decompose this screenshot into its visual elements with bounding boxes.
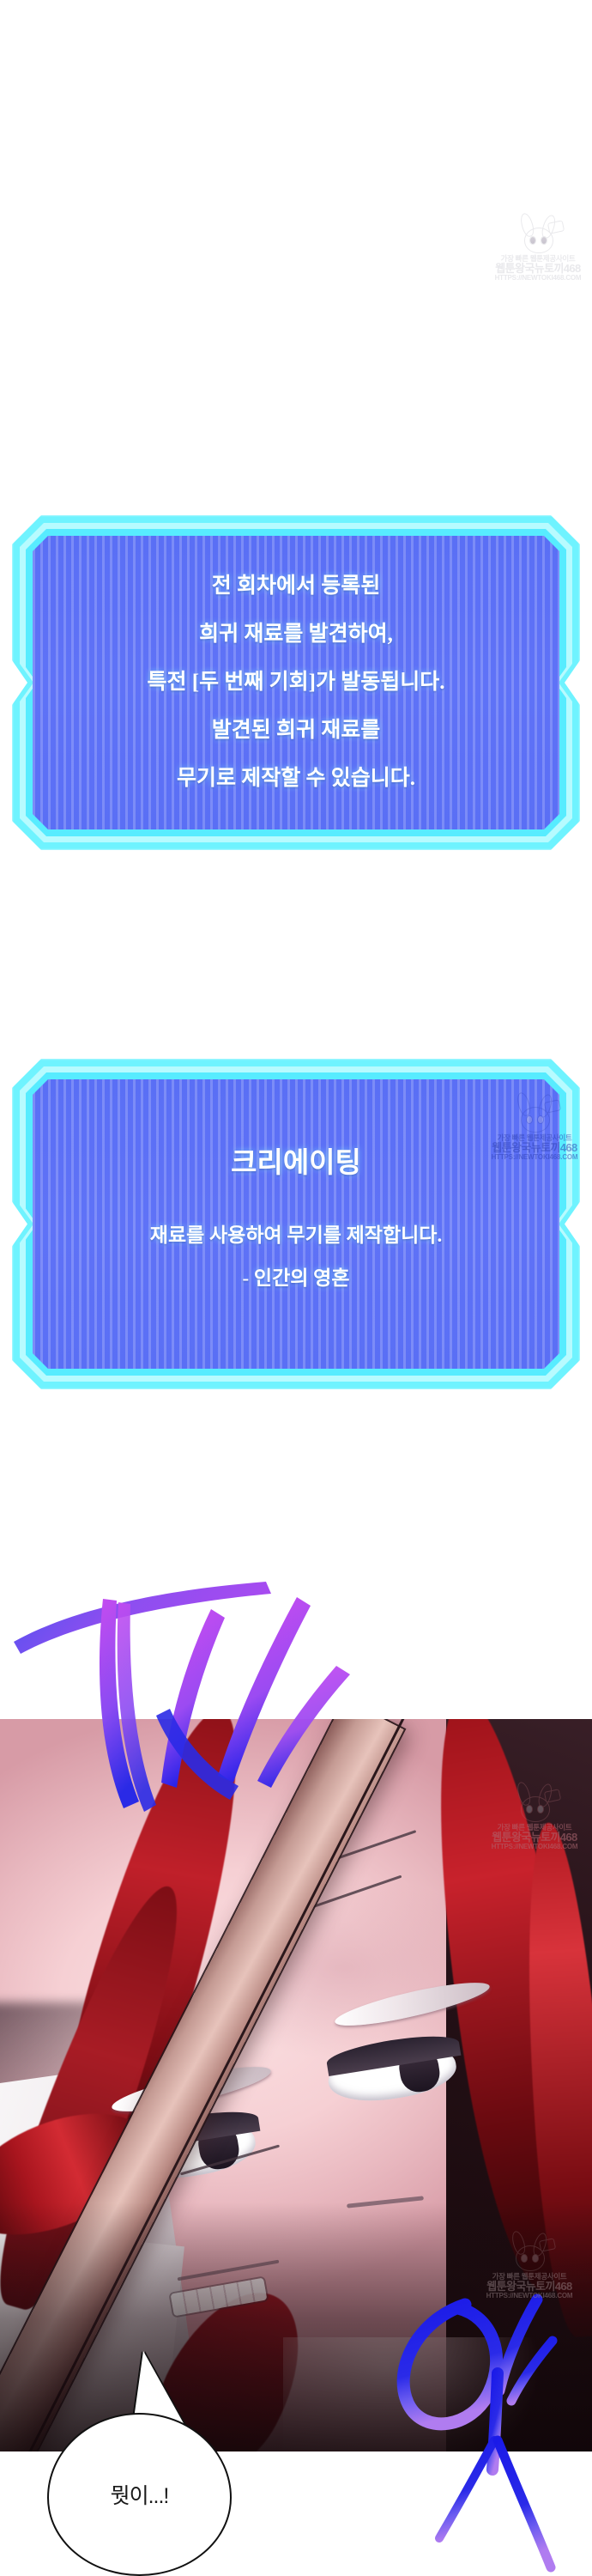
system-box-1-line-4: 발견된 희귀 재료를 — [51, 707, 541, 755]
watermark-line-1: 가장 빠른 웹툰제공사이트 — [501, 255, 576, 263]
watermark-line-3: HTTPS://NEWTOKI468.COM — [495, 275, 582, 282]
watermark-line-2: 웹툰왕국뉴토끼468 — [495, 263, 580, 275]
speech-bubble-body: 뭣이...! — [47, 2413, 232, 2576]
watermark-top: 가장 빠른 웹툰제공사이트 웹툰왕국뉴토끼468 HTTPS://NEWTOKI… — [491, 213, 585, 282]
system-box-2-title: 크리에이팅 — [51, 1148, 541, 1179]
system-message-box-1: 전 회차에서 등록된 희귀 재료를 발견하여, 특전 [두 번째 기회]가 발동… — [12, 515, 580, 850]
art-panel-angry-face — [0, 1719, 592, 2451]
system-message-box-2: 크리에이팅 재료를 사용하여 무기를 제작합니다. - 인간의 영혼 — [12, 1059, 580, 1389]
rabbit-mascot-icon — [510, 213, 565, 254]
speech-bubble-text: 뭣이...! — [111, 2479, 169, 2510]
system-box-2-line-1: 재료를 사용하여 무기를 제작합니다. — [51, 1214, 541, 1257]
calli-stroke-horizontal — [14, 1582, 271, 1654]
system-box-1-line-2: 희귀 재료를 발견하여, — [51, 611, 541, 659]
speech-bubble: 뭣이...! — [47, 2413, 232, 2576]
calli-glyph-tail-left — [439, 2440, 494, 2538]
system-box-1-line-3: 특전 [두 번째 기회]가 발동됩니다. — [51, 659, 541, 707]
system-box-2-line-2: - 인간의 영혼 — [51, 1257, 541, 1300]
system-box-2-text: 크리에이팅 재료를 사용하여 무기를 제작합니다. - 인간의 영혼 — [51, 1148, 541, 1299]
system-box-1-line-5: 무기로 제작할 수 있습니다. — [51, 755, 541, 803]
system-box-1-text: 전 회차에서 등록된 희귀 재료를 발견하여, 특전 [두 번째 기회]가 발동… — [51, 562, 541, 803]
system-box-1-line-1: 전 회차에서 등록된 — [51, 562, 541, 611]
calli-glyph-tail-right — [498, 2440, 551, 2567]
